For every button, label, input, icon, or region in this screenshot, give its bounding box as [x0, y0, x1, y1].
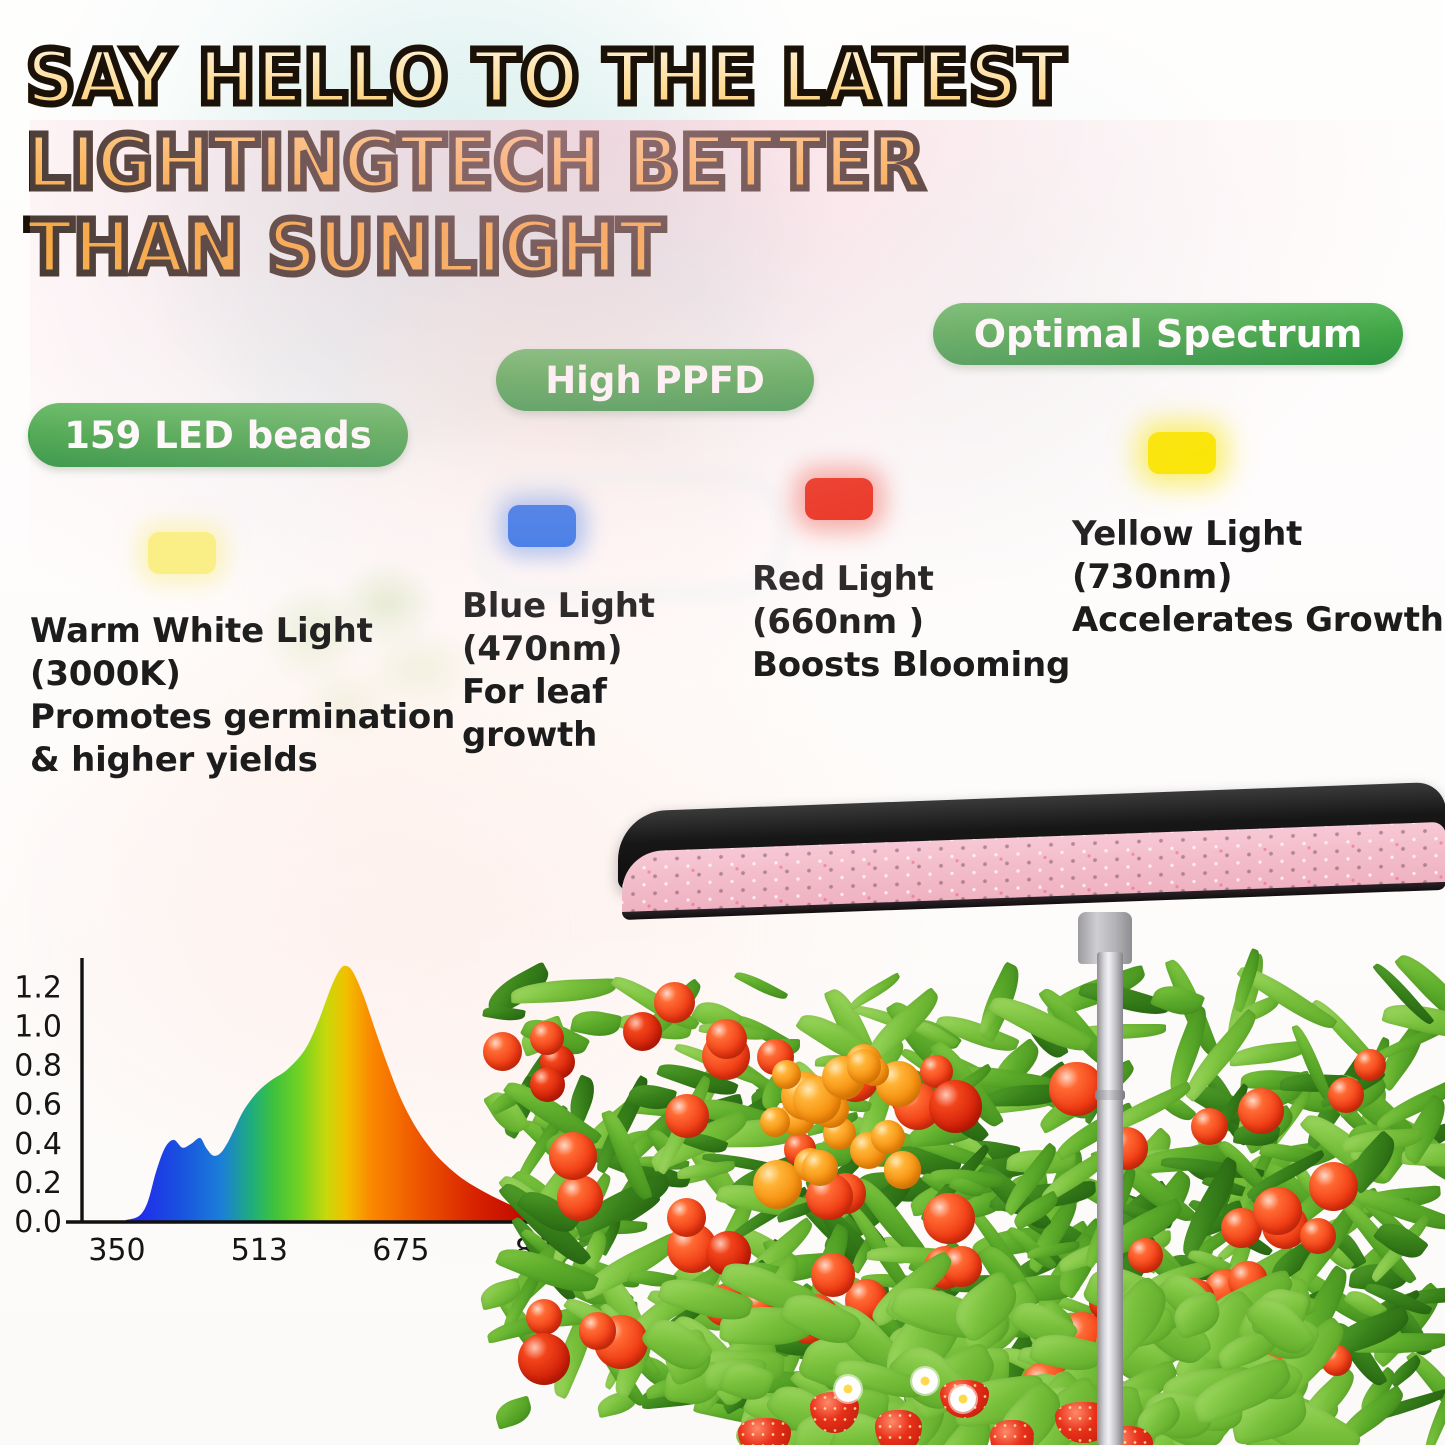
tomato-fruit: [706, 1019, 746, 1059]
orange-fruit: [802, 1150, 838, 1186]
tomato-fruit: [811, 1253, 855, 1297]
chart-y-tick: 1.2: [14, 970, 62, 1005]
tomato-fruit: [665, 1094, 709, 1138]
strawberry-fruit: [990, 1420, 1034, 1445]
tomato-fruit: [1049, 1062, 1103, 1116]
swatch-yellow-icon: [1148, 432, 1216, 474]
pole-segment-joint: [1095, 1090, 1125, 1100]
tomato-fruit: [1328, 1077, 1364, 1113]
strawberry-fruit: [738, 1418, 791, 1445]
tomato-fruit: [1191, 1108, 1228, 1145]
tomato-fruit: [1128, 1238, 1163, 1273]
tomato-fruit: [929, 1080, 982, 1133]
plant-cluster: [480, 940, 1445, 1445]
swatch-blue-icon: [508, 505, 576, 547]
chart-x-tick: 675: [372, 1233, 429, 1268]
tomato-fruit: [530, 1067, 565, 1102]
orange-fruit: [760, 1107, 790, 1137]
badge-high-ppfd: High PPFD: [496, 349, 814, 411]
tomato-fruit: [1253, 1187, 1301, 1235]
chart-y-tick: 0.2: [14, 1166, 62, 1201]
tomato-fruit: [923, 1193, 975, 1245]
adjustable-pole: [1097, 952, 1123, 1445]
strawberry-flower: [835, 1376, 861, 1402]
infographic-canvas: SAY HELLO TO THE LATEST LIGHTINGTECH BET…: [0, 0, 1445, 1445]
tomato-fruit: [518, 1333, 570, 1385]
label-yellow-light: Yellow Light (730nm) Accelerates Growth: [1072, 513, 1445, 642]
plant-leaf: [733, 967, 787, 1003]
plant-leaf: [483, 1004, 527, 1023]
label-red-light: Red Light (660nm ) Boosts Blooming: [752, 558, 1072, 687]
tomato-fruit: [530, 1021, 564, 1055]
swatch-red-icon: [805, 478, 873, 520]
chart-y-tick: 0.4: [14, 1127, 62, 1162]
orange-fruit: [847, 1049, 882, 1084]
strawberry-fruit: [875, 1410, 922, 1445]
chart-y-tick: 0.8: [14, 1049, 62, 1084]
tomato-fruit: [526, 1299, 562, 1335]
chart-x-tick: 513: [231, 1233, 288, 1268]
chart-y-tick: 0.0: [14, 1205, 62, 1240]
chart-y-tick-labels: 0.00.20.40.60.81.01.2: [14, 970, 62, 1240]
led-grow-light-fixture: [600, 800, 1445, 960]
tomato-fruit: [557, 1175, 603, 1221]
badge-optimal-spectrum: Optimal Spectrum: [933, 303, 1403, 365]
tomato-fruit: [483, 1032, 523, 1072]
page-title: SAY HELLO TO THE LATEST LIGHTINGTECH BET…: [26, 36, 1123, 291]
tomato-fruit: [1238, 1088, 1284, 1134]
badge-led-beads-label: 159 LED beads: [64, 414, 372, 457]
badge-led-beads: 159 LED beads: [28, 403, 408, 467]
tomato-fruit: [579, 1312, 617, 1350]
strawberry-flower: [912, 1368, 938, 1394]
label-warm-white-light: Warm White Light (3000K) Promotes germin…: [30, 610, 470, 782]
tomato-fruit: [623, 1012, 663, 1052]
strawberry-flower: [950, 1386, 976, 1412]
chart-y-tick: 0.6: [14, 1088, 62, 1123]
plant-leaf: [492, 1395, 535, 1430]
swatch-warm-white-icon: [148, 532, 216, 574]
tomato-fruit: [1354, 1049, 1386, 1081]
chart-y-tick: 1.0: [14, 1009, 62, 1044]
tomato-fruit: [667, 1198, 706, 1237]
chart-x-tick: 350: [88, 1233, 145, 1268]
tomato-fruit: [549, 1132, 597, 1180]
badge-high-ppfd-label: High PPFD: [545, 359, 765, 402]
orange-fruit: [871, 1120, 905, 1154]
tomato-fruit: [1300, 1218, 1336, 1254]
label-blue-light: Blue Light (470nm) For leaf growth: [462, 585, 752, 757]
badge-optimal-spectrum-label: Optimal Spectrum: [974, 312, 1363, 356]
tomato-fruit: [1309, 1162, 1358, 1211]
